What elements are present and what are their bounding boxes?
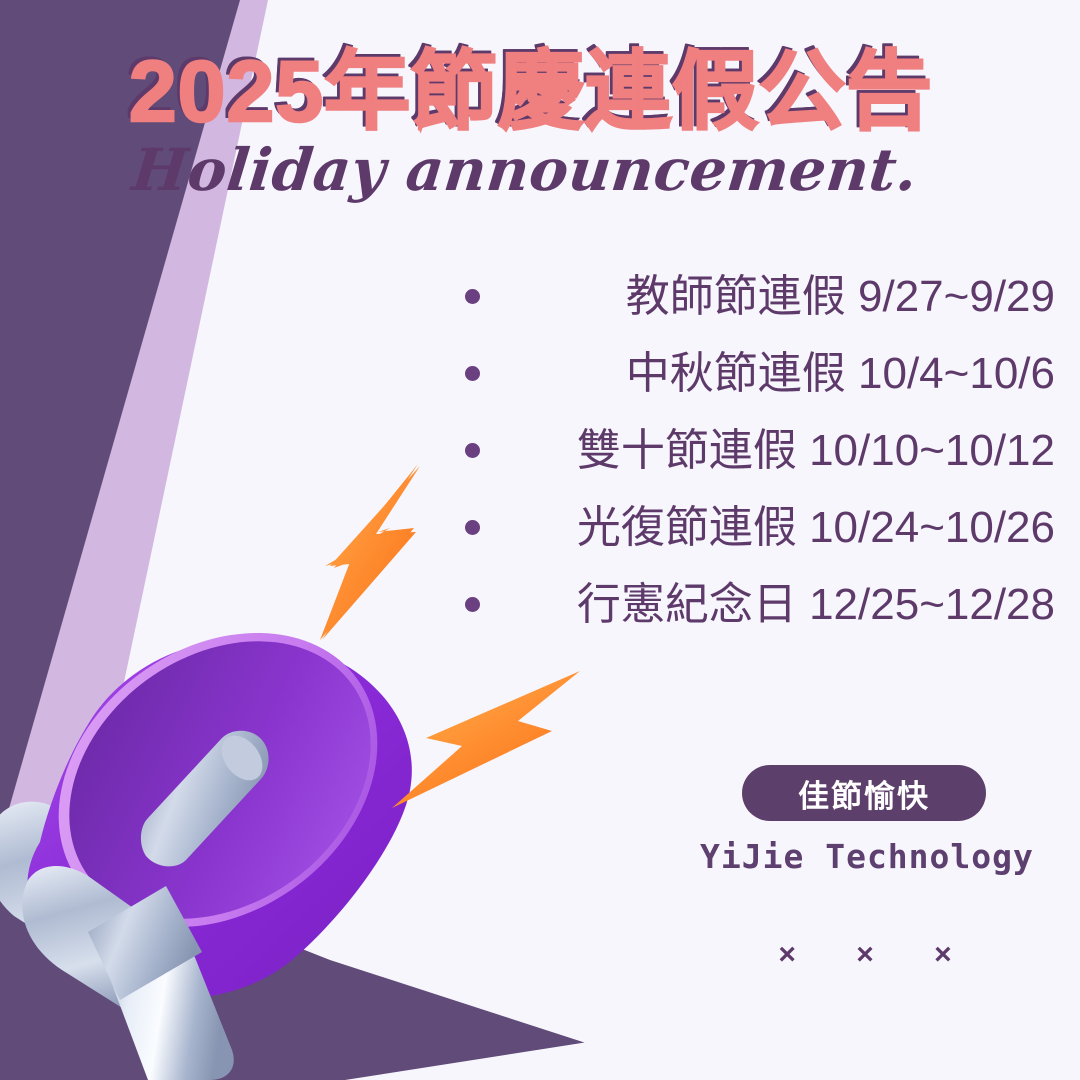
- bullet-icon: [465, 443, 480, 458]
- greeting-badge: 佳節愉快: [742, 765, 986, 821]
- list-item: 中秋節連假 10/4~10/6: [465, 335, 1055, 412]
- bullet-icon: [465, 597, 480, 612]
- list-item: 教師節連假 9/27~9/29: [465, 258, 1055, 335]
- holiday-announcement-poster: 2025年節慶連假公告 Holiday announcement. 教師節連假 …: [0, 0, 1080, 1080]
- bullet-icon: [465, 289, 480, 304]
- brand-name: YiJie Technology: [700, 837, 1030, 876]
- holiday-entry-text: 中秋節連假 10/4~10/6: [626, 352, 1055, 396]
- holiday-entry-text: 光復節連假 10/24~10/26: [577, 506, 1055, 550]
- holiday-list: 教師節連假 9/27~9/29 中秋節連假 10/4~10/6 雙十節連假 10…: [465, 258, 1055, 643]
- greeting-badge-label: 佳節愉快: [798, 771, 930, 816]
- bullet-icon: [465, 520, 480, 535]
- bullet-icon: [465, 366, 480, 381]
- holiday-entry-text: 行憲紀念日 12/25~12/28: [577, 583, 1055, 627]
- holiday-entry-text: 雙十節連假 10/10~10/12: [577, 429, 1055, 473]
- list-item: 雙十節連假 10/10~10/12: [465, 412, 1055, 489]
- list-item: 行憲紀念日 12/25~12/28: [465, 566, 1055, 643]
- holiday-entry-text: 教師節連假 9/27~9/29: [626, 275, 1055, 319]
- list-item: 光復節連假 10/24~10/26: [465, 489, 1055, 566]
- decorative-x-marks: × × ×: [700, 938, 1030, 972]
